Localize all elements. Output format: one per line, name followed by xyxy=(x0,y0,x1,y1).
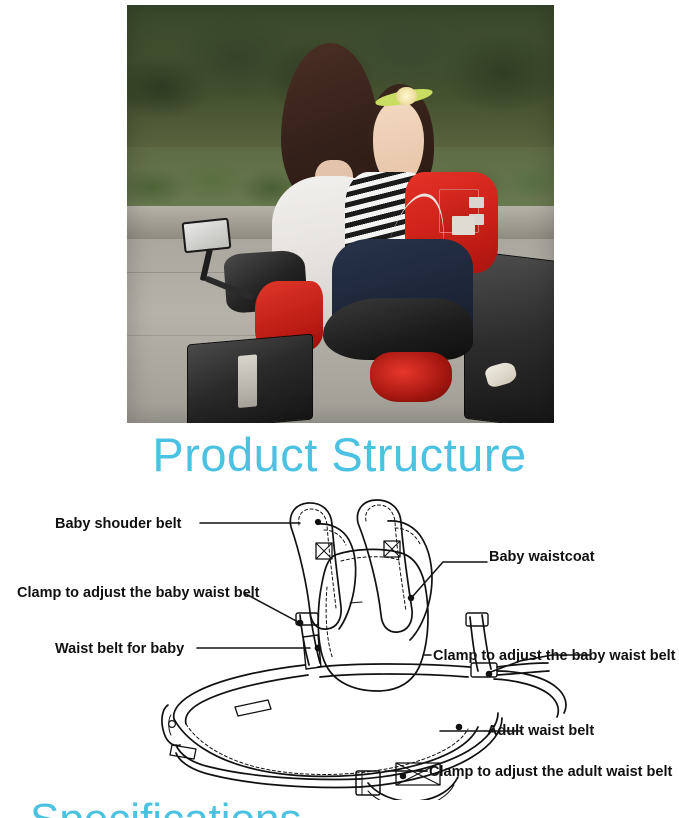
product-in-use-photo xyxy=(127,5,554,423)
photo-canvas xyxy=(127,5,554,423)
motorcycle-right-case xyxy=(464,249,554,423)
section-title-specifications: Specifications xyxy=(30,798,301,818)
child-hair-flower xyxy=(396,87,417,105)
motorcycle-tail-light xyxy=(370,352,451,402)
section-title-product-structure: Product Structure xyxy=(0,430,679,479)
label-clamp-baby-waist-belt-left: Clamp to adjust the baby waist belt xyxy=(17,586,260,601)
page-root: Product Structure xyxy=(0,0,679,818)
label-clamp-adult-waist-belt: Clamp to adjust the adult waist belt xyxy=(429,765,672,780)
product-structure-diagram: Baby shouder belt Clamp to adjust the ba… xyxy=(0,495,679,800)
motorcycle-seat xyxy=(323,298,472,361)
label-baby-shoulder-belt: Baby shouder belt xyxy=(55,517,182,532)
label-waist-belt-for-baby: Waist belt for baby xyxy=(55,642,184,657)
harness-reflector-upper xyxy=(469,197,484,208)
label-clamp-baby-waist-belt-right: Clamp to adjust the baby waist belt xyxy=(433,649,676,664)
motorcycle-left-case xyxy=(187,334,313,423)
label-adult-waist-belt: Adult waist belt xyxy=(487,724,594,739)
label-baby-waistcoat: Baby waistcoat xyxy=(489,550,595,565)
motorcycle-mirror xyxy=(181,218,231,254)
harness-logo-patch xyxy=(452,216,475,235)
